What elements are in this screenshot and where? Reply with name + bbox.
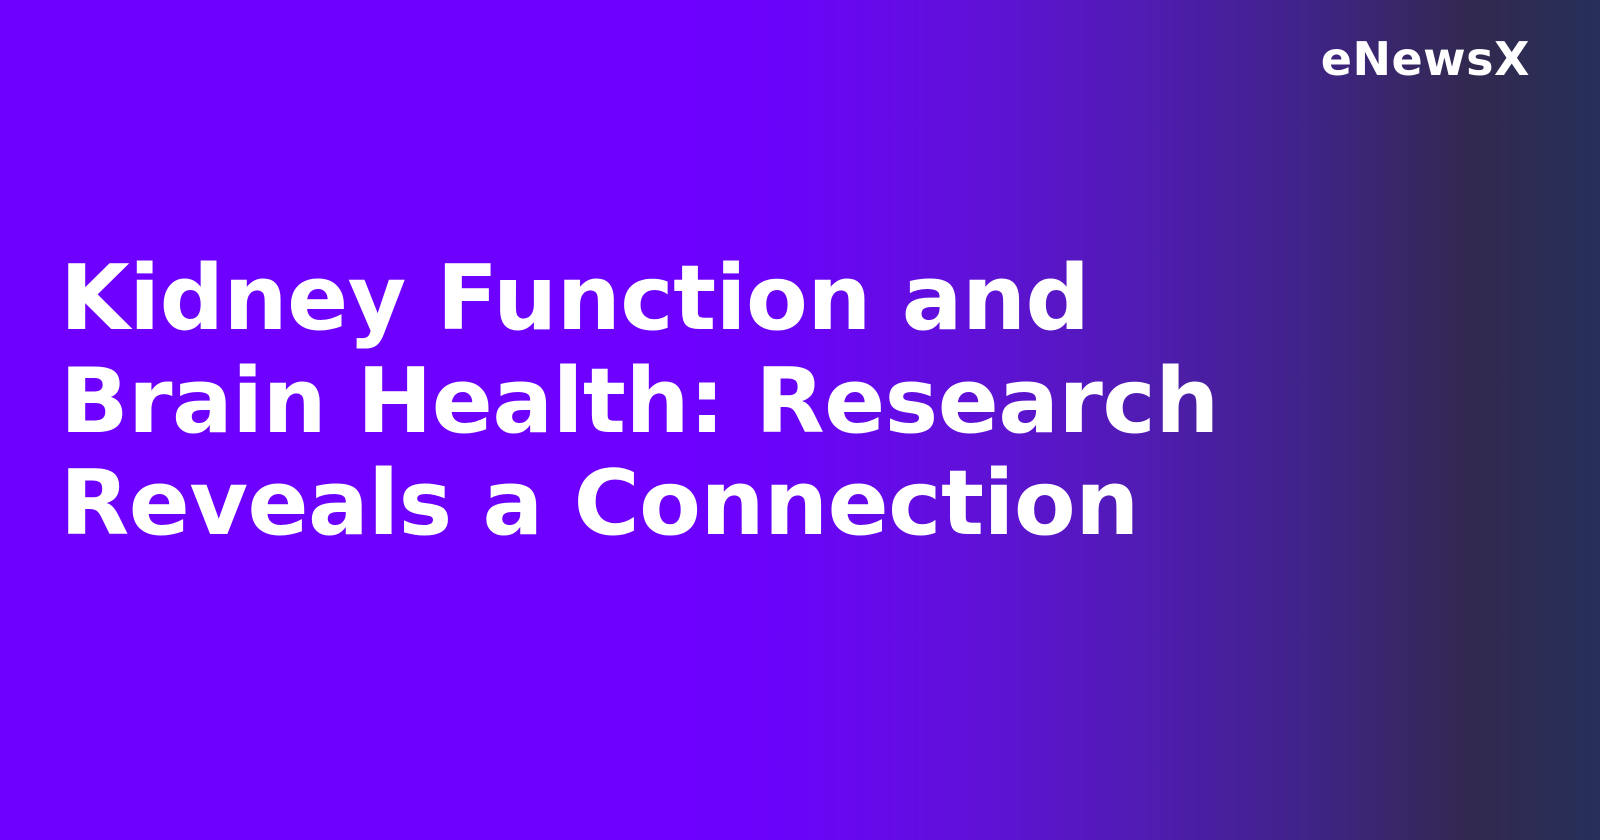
article-hero-banner: eNewsX Kidney Function and Brain Health:… [0,0,1600,840]
article-headline: Kidney Function and Brain Health: Resear… [60,248,1360,556]
brand-wordmark: eNewsX [1321,36,1530,82]
site-logo[interactable]: eNewsX [1321,36,1530,82]
headline-container: Kidney Function and Brain Health: Resear… [60,248,1360,556]
